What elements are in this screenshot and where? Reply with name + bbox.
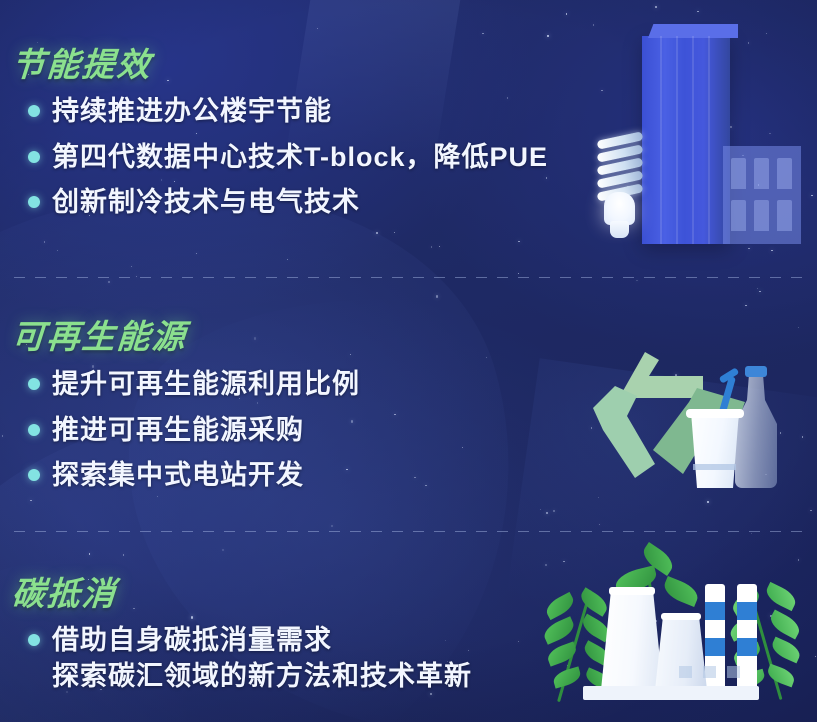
cooling-tower-small-icon [655,616,707,690]
bullet-dot-icon [28,151,40,163]
illustration-office-buildings-and-cfl-bulb [590,18,805,253]
infographic-poster: 节能提效 持续推进办公楼宇节能 第四代数据中心技术T-block，降低PUE 创… [0,0,817,722]
list-item: 持续推进办公楼宇节能 [28,94,548,130]
bottle-cap-icon [745,366,767,377]
cfl-bulb-icon [592,136,648,242]
bullet-dot-icon [28,469,40,481]
section-title-energy-efficiency: 节能提效 [10,38,153,86]
list-item-label: 创新制冷技术与电气技术 [52,185,360,221]
cooling-tower-small-rim [661,613,701,620]
list-item-label: 持续推进办公楼宇节能 [52,94,332,130]
tall-building-icon [642,36,730,244]
list-item: 借助自身碳抵消量需求 探索碳汇领域的新方法和技术革新 [28,623,472,694]
bullet-dot-icon [28,424,40,436]
section-energy-efficiency: 节能提效 持续推进办公楼宇节能 第四代数据中心技术T-block，降低PUE 创… [0,0,817,277]
section-title-carbon-offset: 碳抵消 [10,567,118,615]
bullet-dot-icon [28,634,40,646]
cooling-tower-large-rim [609,587,655,595]
cup-lip-icon [686,409,744,418]
list-item: 推进可再生能源采购 [28,413,360,449]
list-item: 探索集中式电站开发 [28,458,360,494]
bullet-dot-icon [28,196,40,208]
bullet-dot-icon [28,378,40,390]
list-item: 创新制冷技术与电气技术 [28,185,548,221]
bullet-list-renewable-energy: 提升可再生能源利用比例 推进可再生能源采购 探索集中式电站开发 [28,367,360,504]
bullet-list-energy-efficiency: 持续推进办公楼宇节能 第四代数据中心技术T-block，降低PUE 创新制冷技术… [28,94,548,231]
low-building-icon [723,146,801,244]
cooling-tower-large-icon [601,590,663,690]
illustration-power-plant-with-leaves [529,548,801,720]
list-item-label: 第四代数据中心技术T-block，降低PUE [52,140,548,176]
plant-base-platform [583,686,759,700]
cup-band-icon [693,464,736,470]
list-item-label: 提升可再生能源利用比例 [52,367,360,403]
list-item-label: 探索集中式电站开发 [52,458,304,494]
list-item-label: 推进可再生能源采购 [52,413,304,449]
list-item: 提升可再生能源利用比例 [28,367,360,403]
bullet-list-carbon-offset: 借助自身碳抵消量需求 探索碳汇领域的新方法和技术革新 [28,623,472,704]
smokestack-icon [737,584,757,686]
list-item: 第四代数据中心技术T-block，降低PUE [28,140,548,176]
list-item-label: 借助自身碳抵消量需求 探索碳汇领域的新方法和技术革新 [52,623,472,694]
cup-icon [689,412,741,488]
bullet-dot-icon [28,105,40,117]
illustration-recycling-cup-bottle [593,352,803,502]
section-title-renewable-energy: 可再生能源 [10,310,188,358]
